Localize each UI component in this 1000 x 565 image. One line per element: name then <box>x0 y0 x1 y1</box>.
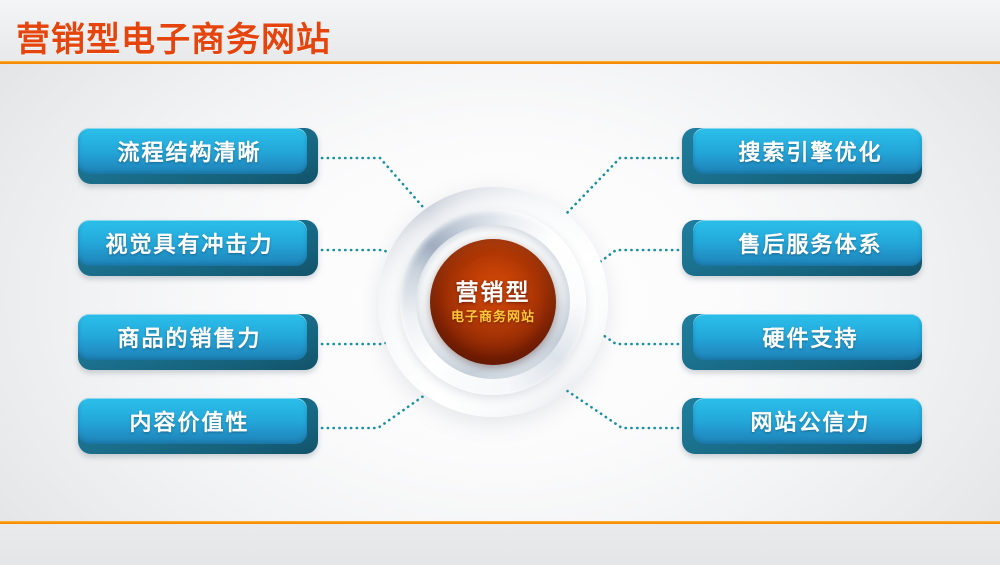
button-label: 硬件支持 <box>693 321 922 353</box>
feature-button-left-2[interactable]: 视觉具有冲击力 <box>78 220 318 276</box>
feature-button-right-1[interactable]: 搜索引擎优化 <box>682 128 922 184</box>
button-label: 内容价值性 <box>78 405 307 437</box>
button-face: 流程结构清晰 <box>78 128 307 174</box>
button-label: 流程结构清晰 <box>78 135 307 167</box>
feature-button-right-4[interactable]: 网站公信力 <box>682 398 922 454</box>
button-face: 内容价值性 <box>78 398 307 444</box>
feature-button-right-2[interactable]: 售后服务体系 <box>682 220 922 276</box>
button-label: 视觉具有冲击力 <box>78 227 307 259</box>
button-label: 商品的销售力 <box>78 321 307 353</box>
connector-right-2 <box>600 250 678 262</box>
emblem-sub-label: 电子商务网站 <box>451 309 535 325</box>
page-title: 营销型电子商务网站 <box>16 12 331 61</box>
button-label: 售后服务体系 <box>693 227 922 259</box>
button-face: 网站公信力 <box>693 398 922 444</box>
feature-button-left-4[interactable]: 内容价值性 <box>78 398 318 454</box>
button-face: 硬件支持 <box>693 314 922 360</box>
header-divider-rule <box>0 61 1000 64</box>
button-face: 商品的销售力 <box>78 314 307 360</box>
connector-right-3 <box>600 333 678 344</box>
button-label: 网站公信力 <box>693 405 922 437</box>
button-face: 视觉具有冲击力 <box>78 220 307 266</box>
feature-button-right-3[interactable]: 硬件支持 <box>682 314 922 370</box>
slide-canvas: 营销型电子商务网站 营销型 电子商务网站 <box>0 0 1000 565</box>
button-label: 搜索引擎优化 <box>693 135 922 167</box>
feature-button-left-1[interactable]: 流程结构清晰 <box>78 128 318 184</box>
footer-band <box>0 524 1000 565</box>
button-face: 售后服务体系 <box>693 220 922 266</box>
emblem-main-label: 营销型 <box>456 279 531 305</box>
feature-button-left-3[interactable]: 商品的销售力 <box>78 314 318 370</box>
center-emblem[interactable]: 营销型 电子商务网站 <box>378 187 608 417</box>
button-face: 搜索引擎优化 <box>693 128 922 174</box>
emblem-core: 营销型 电子商务网站 <box>430 239 556 365</box>
